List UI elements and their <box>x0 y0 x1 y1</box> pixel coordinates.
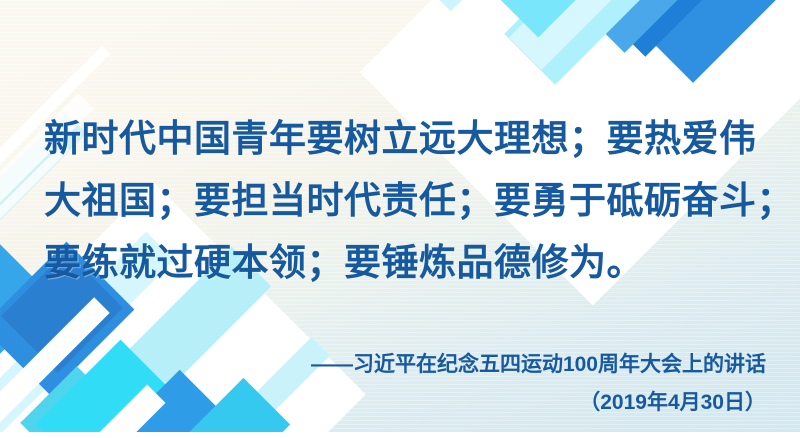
quote-line-3: 要练就过硬本领；要锤炼品德修为。 <box>44 232 758 294</box>
quote-block: 新时代中国青年要树立远大理想；要热爱伟 大祖国；要担当时代责任；要勇于砥砺奋斗；… <box>44 108 758 294</box>
quote-line-1: 新时代中国青年要树立远大理想；要热爱伟 <box>44 108 758 170</box>
poster-content: 新时代中国青年要树立远大理想；要热爱伟 大祖国；要担当时代责任；要勇于砥砺奋斗；… <box>0 0 800 438</box>
attribution-date: （2019年4月30日） <box>311 386 766 420</box>
attribution-source: ——习近平在纪念五四运动100周年大会上的讲话 <box>311 348 766 382</box>
quote-poster: 新时代中国青年要树立远大理想；要热爱伟 大祖国；要担当时代责任；要勇于砥砺奋斗；… <box>0 0 800 438</box>
quote-line-2: 大祖国；要担当时代责任；要勇于砥砺奋斗； <box>44 170 758 232</box>
attribution-block: ——习近平在纪念五四运动100周年大会上的讲话 （2019年4月30日） <box>311 348 766 420</box>
